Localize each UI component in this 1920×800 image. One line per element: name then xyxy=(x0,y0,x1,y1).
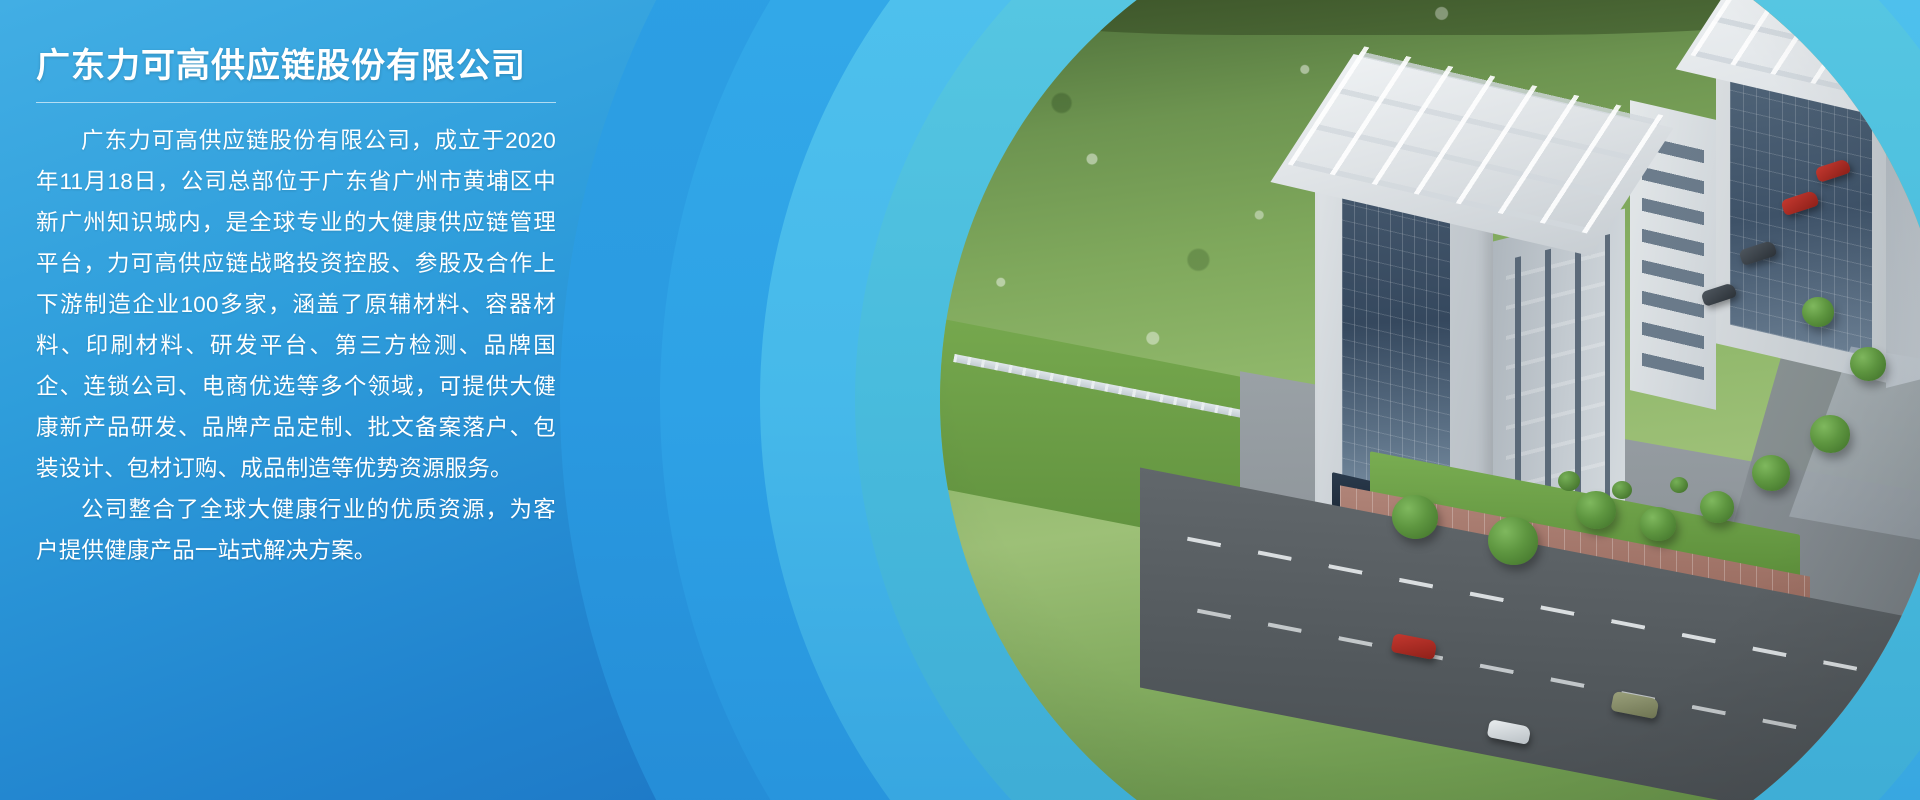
tree xyxy=(1752,455,1790,491)
tree xyxy=(1850,347,1886,381)
building-mid-windows xyxy=(1642,126,1704,380)
tree xyxy=(1576,491,1616,529)
shrub xyxy=(1558,471,1580,491)
text-column: 广东力可高供应链股份有限公司 广东力可高供应链股份有限公司，成立于2020年11… xyxy=(36,44,556,572)
rendering-scene xyxy=(940,0,1920,800)
building-b-side-wall xyxy=(1886,86,1920,388)
company-name-title: 广东力可高供应链股份有限公司 xyxy=(36,44,556,88)
tree xyxy=(1700,491,1734,523)
building-b-glass-curtain-wall xyxy=(1730,69,1872,358)
shrub xyxy=(1670,477,1688,493)
tree xyxy=(1392,495,1438,539)
company-profile-banner: 广东力可高供应链股份有限公司 广东力可高供应链股份有限公司，成立于2020年11… xyxy=(0,0,1920,800)
tree xyxy=(1810,415,1850,453)
title-divider xyxy=(36,102,556,103)
tree xyxy=(1488,517,1538,565)
company-description-paragraph-1: 广东力可高供应链股份有限公司，成立于2020年11月18日，公司总部位于广东省广… xyxy=(36,121,556,489)
tree xyxy=(1640,507,1676,541)
tree xyxy=(1802,297,1834,327)
shrub xyxy=(1612,481,1632,499)
company-description-paragraph-2: 公司整合了全球大健康行业的优质资源，为客户提供健康产品一站式解决方案。 xyxy=(36,490,556,572)
company-building-photo xyxy=(940,0,1920,800)
